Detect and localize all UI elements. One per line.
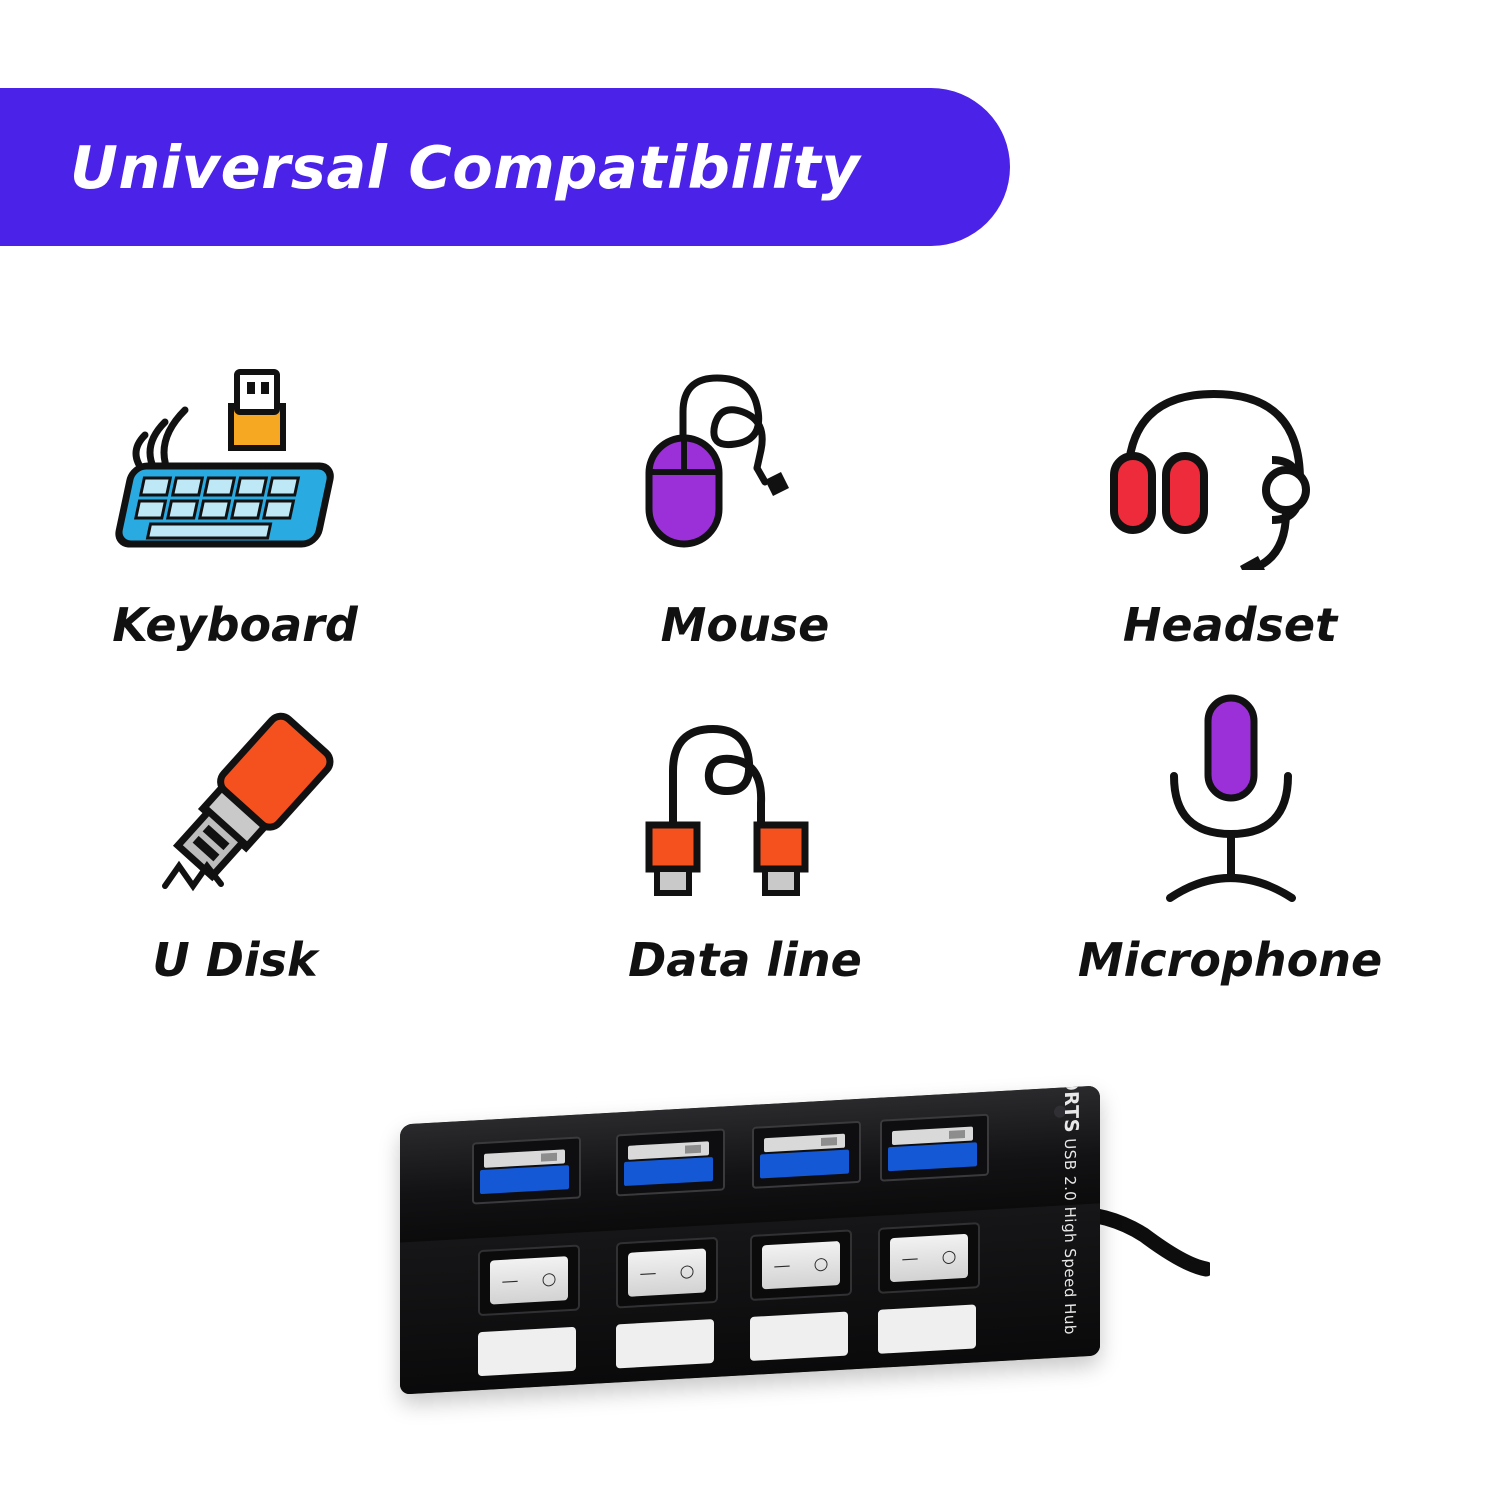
keyboard-icon	[0, 350, 475, 580]
compat-item-data-line: Data line	[505, 685, 985, 987]
switch-off-mark-1: —	[502, 1271, 519, 1292]
ports-label: PORTS	[1060, 1085, 1082, 1133]
compat-item-microphone: Microphone	[990, 685, 1470, 987]
usb-port-2[interactable]	[616, 1128, 725, 1196]
switch-on-mark-3: ○	[814, 1254, 829, 1275]
microphone-icon	[990, 685, 1470, 915]
rocker-1: — ○	[490, 1256, 568, 1304]
power-switch-3[interactable]: — ○	[750, 1229, 852, 1301]
power-switch-4[interactable]: — ○	[878, 1222, 980, 1294]
compat-label-keyboard: Keyboard	[0, 598, 475, 652]
compat-item-headset: Headset	[990, 350, 1470, 652]
header-banner: Universal Compatibility	[0, 88, 1010, 246]
led-indicator-3	[750, 1312, 848, 1361]
rocker-2: — ○	[628, 1248, 706, 1296]
compat-item-u-disk: U Disk	[0, 685, 475, 987]
switch-off-mark-4: —	[902, 1249, 919, 1270]
compat-label-u-disk: U Disk	[0, 933, 475, 987]
usb-cable-icon	[505, 685, 985, 915]
power-switch-1[interactable]: — ○	[478, 1245, 580, 1317]
rocker-4: — ○	[890, 1234, 968, 1282]
mouse-icon	[505, 350, 985, 580]
compat-item-mouse: Mouse	[505, 350, 985, 652]
compat-label-microphone: Microphone	[990, 933, 1470, 987]
compat-label-headset: Headset	[990, 598, 1470, 652]
product-image: — ○ — ○ — ○ — ○ 4	[380, 1075, 1220, 1405]
headset-icon	[990, 350, 1470, 580]
hub-spec-label: USB 2.0 High Speed Hub	[1061, 1138, 1079, 1336]
switch-off-mark-3: —	[774, 1256, 791, 1277]
switch-on-mark-4: ○	[942, 1246, 957, 1267]
rocker-3: — ○	[762, 1241, 840, 1289]
led-indicator-1	[478, 1327, 576, 1376]
switch-on-mark-2: ○	[680, 1261, 695, 1282]
compat-label-mouse: Mouse	[505, 598, 985, 652]
switch-off-mark-2: —	[640, 1263, 657, 1284]
usb-hub-device: — ○ — ○ — ○ — ○ 4	[400, 1085, 1100, 1394]
compatibility-grid: Keyboard Mouse	[0, 330, 1500, 1050]
power-switch-2[interactable]: — ○	[616, 1237, 718, 1309]
switch-on-mark-1: ○	[542, 1269, 557, 1290]
usb-port-1[interactable]	[472, 1136, 581, 1204]
page-title: Universal Compatibility	[70, 133, 860, 202]
led-indicator-4	[878, 1304, 976, 1353]
usb-port-3[interactable]	[752, 1121, 861, 1189]
compat-label-data-line: Data line	[505, 933, 985, 987]
usb-flash-drive-icon	[0, 685, 475, 915]
hub-branding: 4 PORTS USB 2.0 High Speed Hub	[972, 1085, 1082, 1126]
compat-item-keyboard: Keyboard	[0, 350, 475, 652]
led-indicator-2	[616, 1319, 714, 1368]
